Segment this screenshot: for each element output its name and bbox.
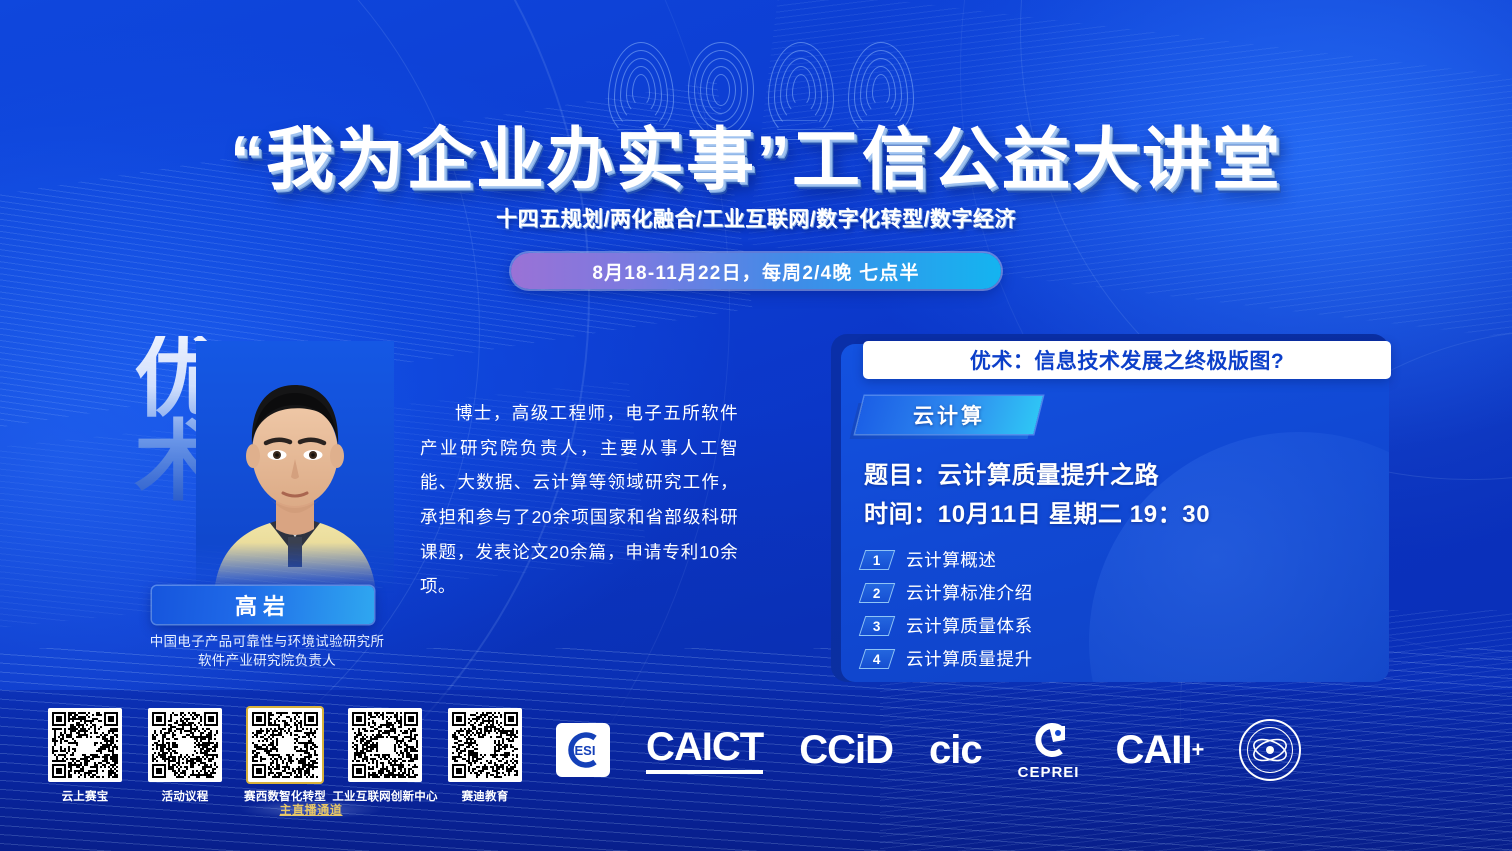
sponsor-logo-ccid: CCiD (799, 730, 893, 770)
seal-inner-ring (1247, 727, 1293, 773)
sponsor-logo-caii: CAII+ (1115, 730, 1203, 770)
speaker-photo (196, 341, 394, 593)
qr-item[interactable]: 赛西数智化转型 (248, 708, 322, 804)
speaker-bio: 博士，高级工程师，电子五所软件产业研究院负责人，主要从事人工智能、大数据、云计算… (420, 396, 738, 604)
svg-text:ESI: ESI (575, 743, 596, 758)
qr-item[interactable]: 工业互联网创新中心 (348, 708, 422, 804)
agenda-label: 云计算质量提升 (906, 646, 1033, 671)
sponsor-logo-ceprei: CEPREI (1018, 720, 1080, 781)
sponsor-logos: ESI CAICT CCiD cic CEPREI CAII+ (556, 712, 1472, 788)
sponsor-logo-cesi: ESI (556, 723, 610, 777)
qr-item[interactable]: 云上赛宝 (48, 708, 122, 804)
schedule-pill: 8月18-11月22日，每周2/4晚 七点半 (511, 253, 1001, 289)
poster-subtitle: 十四五规划/两化融合/工业互联网/数字化转型/数字经济 (0, 203, 1512, 233)
qr-code-image[interactable] (248, 708, 322, 782)
session-series-title: 优术：信息技术发展之终极版图? (863, 341, 1391, 379)
live-channel-badge: 主直播通道 (241, 800, 381, 819)
qr-code-strip: 云上赛宝 活动议程 赛西数智化转型 工业互联网创新中心 赛迪教育 (48, 708, 522, 804)
agenda-number: 1 (873, 552, 881, 567)
agenda-number: 3 (873, 618, 881, 633)
agenda-label: 云计算标准介绍 (906, 580, 1033, 605)
speaker-name-plate: 高岩 (152, 586, 374, 624)
qr-code-image[interactable] (148, 708, 222, 782)
agenda-item: 1 云计算概述 (862, 543, 1292, 576)
session-subject: 题目：云计算质量提升之路 (864, 455, 1159, 490)
ceprei-mark-icon (1025, 720, 1073, 762)
qr-code-image[interactable] (348, 708, 422, 782)
qr-item[interactable]: 赛迪教育 (448, 708, 522, 804)
sponsor-logo-talent-exchange-center (1239, 719, 1301, 781)
session-agenda: 1 云计算概述 2 云计算标准介绍 3 云计算质量体系 4 云计算质量提升 (862, 543, 1292, 675)
ceprei-wordmark: CEPREI (1018, 764, 1080, 781)
agenda-number: 4 (873, 651, 881, 666)
qr-label: 赛迪教育 (462, 788, 509, 804)
agenda-item: 2 云计算标准介绍 (862, 576, 1292, 609)
agenda-number: 2 (873, 585, 881, 600)
sponsor-logo-caict: CAICT (646, 727, 763, 774)
qr-item[interactable]: 活动议程 (148, 708, 222, 804)
agenda-item: 4 云计算质量提升 (862, 642, 1292, 675)
qr-code-image[interactable] (48, 708, 122, 782)
poster-stage: “我为企业办实事”工信公益大讲堂 十四五规划/两化融合/工业互联网/数字化转型/… (0, 0, 1512, 851)
affiliation-line-1: 中国电子产品可靠性与环境试验研究所 (92, 632, 442, 651)
cesi-mark-icon: ESI (556, 723, 610, 777)
agenda-item: 3 云计算质量体系 (862, 609, 1292, 642)
session-time: 时间：10月11日 星期二 19：30 (864, 494, 1210, 529)
agenda-number-chip: 1 (859, 550, 895, 570)
speaker-affiliation: 中国电子产品可靠性与环境试验研究所 软件产业研究院负责人 (92, 632, 442, 670)
topic-tag-label: 云计算 (860, 396, 1038, 434)
poster-title: “我为企业办实事”工信公益大讲堂 (0, 104, 1512, 203)
affiliation-line-2: 软件产业研究院负责人 (92, 651, 442, 670)
agenda-number-chip: 2 (859, 583, 895, 603)
qr-label: 云上赛宝 (62, 788, 109, 804)
sponsor-logo-cic: cic (929, 730, 982, 770)
caii-plus-icon: + (1191, 739, 1203, 761)
seal-icon (1239, 719, 1301, 781)
agenda-number-chip: 4 (859, 649, 895, 669)
agenda-label: 云计算概述 (906, 547, 997, 572)
qr-code-image[interactable] (448, 708, 522, 782)
qr-label: 活动议程 (162, 788, 209, 804)
caii-wordmark: CAII (1115, 730, 1191, 770)
agenda-label: 云计算质量体系 (906, 613, 1033, 638)
agenda-number-chip: 3 (859, 616, 895, 636)
